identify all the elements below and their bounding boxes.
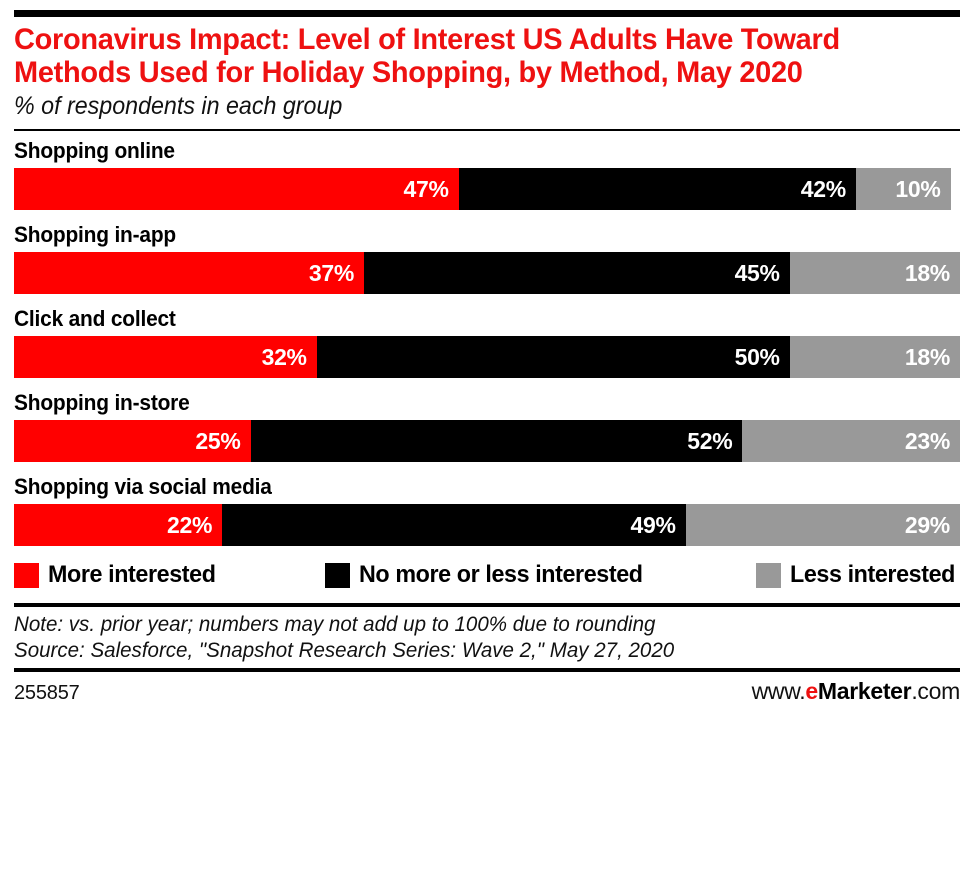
bar-segment-value: 23%	[905, 428, 950, 455]
bar-segment: 18%	[790, 252, 960, 294]
bar-group: Shopping in-store25%52%23%	[14, 390, 960, 462]
stacked-bar: 25%52%23%	[14, 420, 960, 462]
footnote-note: Note: vs. prior year; numbers may not ad…	[14, 611, 959, 637]
bar-segment: 50%	[317, 336, 790, 378]
bar-segment-value: 50%	[735, 344, 780, 371]
brand-marketer: Marketer	[818, 678, 912, 704]
bar-category-label: Shopping online	[14, 138, 913, 164]
bar-groups: Shopping online47%42%10%Shopping in-app3…	[14, 138, 960, 546]
bar-category-label: Shopping in-store	[14, 390, 913, 416]
bar-segment: 10%	[856, 168, 951, 210]
bar-segment-value: 22%	[167, 512, 212, 539]
stacked-bar: 37%45%18%	[14, 252, 960, 294]
bar-group: Shopping online47%42%10%	[14, 138, 960, 210]
bar-segment: 52%	[251, 420, 743, 462]
chart-subtitle: % of respondents in each group	[14, 92, 894, 121]
bar-segment-value: 29%	[905, 512, 950, 539]
chart-id: 255857	[14, 682, 80, 705]
bar-segment: 49%	[222, 504, 686, 546]
legend-item[interactable]: More interested	[14, 561, 221, 589]
bar-segment-value: 10%	[895, 176, 940, 203]
bar-segment-value: 32%	[262, 344, 307, 371]
bar-segment: 42%	[459, 168, 856, 210]
bar-segment-value: 25%	[195, 428, 240, 455]
bar-segment-value: 42%	[801, 176, 846, 203]
brand-com: .com	[911, 678, 960, 704]
chart-container: Coronavirus Impact: Level of Interest US…	[0, 10, 974, 870]
bottom-bar: 255857 www.eMarketer.com	[14, 678, 960, 705]
bar-segment: 37%	[14, 252, 364, 294]
bar-segment-value: 45%	[735, 260, 780, 287]
header-divider-rule	[14, 129, 960, 131]
bar-group: Shopping in-app37%45%18%	[14, 222, 960, 294]
legend-label: More interested	[48, 561, 216, 589]
bar-segment: 32%	[14, 336, 317, 378]
legend-swatch-icon	[14, 563, 39, 588]
brand-www: www.	[752, 678, 806, 704]
bar-category-label: Click and collect	[14, 306, 913, 332]
legend-swatch-icon	[756, 563, 781, 588]
bar-group: Shopping via social media22%49%29%	[14, 474, 960, 546]
emarketer-logo: www.eMarketer.com	[752, 678, 960, 705]
top-divider-rule	[14, 10, 960, 17]
bar-segment-value: 18%	[905, 344, 950, 371]
footnote-source: Source: Salesforce, "Snapshot Research S…	[14, 637, 959, 663]
bar-segment: 18%	[790, 336, 960, 378]
stacked-bar: 32%50%18%	[14, 336, 960, 378]
bar-group: Click and collect32%50%18%	[14, 306, 960, 378]
bar-segment: 25%	[14, 420, 251, 462]
bar-segment-value: 49%	[631, 512, 676, 539]
legend-label: No more or less interested	[359, 561, 643, 589]
bar-segment: 29%	[686, 504, 960, 546]
bar-category-label: Shopping via social media	[14, 474, 913, 500]
footnote-bottom-rule	[14, 668, 960, 672]
legend-item[interactable]: Less interested	[756, 561, 960, 589]
bar-segment: 47%	[14, 168, 459, 210]
bar-segment-value: 18%	[905, 260, 950, 287]
bar-segment-value: 37%	[309, 260, 354, 287]
bar-category-label: Shopping in-app	[14, 222, 913, 248]
bar-segment: 45%	[364, 252, 790, 294]
bar-segment: 23%	[742, 420, 960, 462]
bar-segment: 22%	[14, 504, 222, 546]
bar-segment-value: 47%	[403, 176, 448, 203]
legend-swatch-icon	[325, 563, 350, 588]
stacked-bar: 22%49%29%	[14, 504, 960, 546]
bar-segment-value: 52%	[687, 428, 732, 455]
brand-e: e	[805, 678, 818, 704]
legend-item[interactable]: No more or less interested	[325, 561, 651, 589]
chart-title: Coronavirus Impact: Level of Interest US…	[14, 23, 921, 89]
chart-legend: More interestedNo more or less intereste…	[14, 558, 960, 592]
legend-label: Less interested	[790, 561, 955, 589]
footnote-block: Note: vs. prior year; numbers may not ad…	[14, 607, 959, 666]
stacked-bar: 47%42%10%	[14, 168, 960, 210]
